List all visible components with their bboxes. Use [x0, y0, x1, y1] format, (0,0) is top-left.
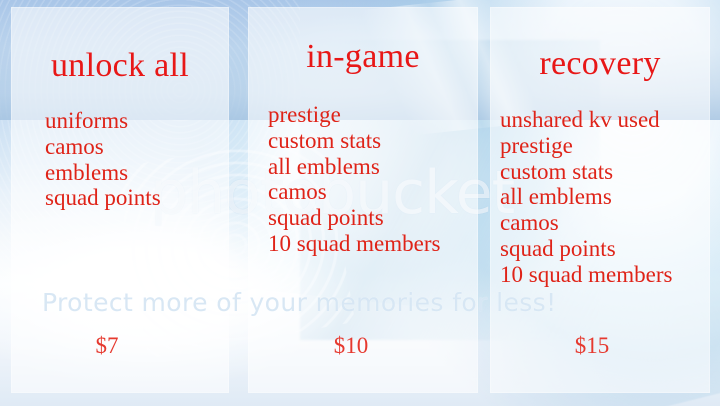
list-item: squad points	[268, 205, 440, 231]
list-item: 10 squad members	[268, 231, 440, 257]
list-item: camos	[45, 134, 161, 160]
list-item: prestige	[500, 133, 672, 159]
list-item: squad points	[45, 185, 161, 211]
tier-title: in-game	[248, 40, 478, 74]
tier-price: $7	[0, 334, 216, 357]
list-item: camos	[500, 210, 672, 236]
tier-column-recovery: recovery unshared kv used prestige custo…	[490, 7, 710, 393]
list-item: all emblems	[268, 154, 440, 180]
tier-title: recovery	[490, 47, 710, 81]
list-item: squad points	[500, 236, 672, 262]
list-item: emblems	[45, 160, 161, 186]
list-item: 10 squad members	[500, 262, 672, 288]
tier-column-unlock-all: unlock all uniforms camos emblems squad …	[11, 7, 229, 393]
tier-feature-list: uniforms camos emblems squad points	[45, 108, 161, 211]
tier-feature-list: unshared kv used prestige custom stats a…	[500, 107, 672, 287]
tier-column-in-game: in-game prestige custom stats all emblem…	[248, 7, 478, 393]
tier-price: $15	[482, 334, 702, 357]
list-item: custom stats	[500, 159, 672, 185]
list-item: custom stats	[268, 128, 440, 154]
list-item: all emblems	[500, 184, 672, 210]
list-item: unshared kv used	[500, 107, 672, 133]
list-item: uniforms	[45, 108, 161, 134]
tier-feature-list: prestige custom stats all emblems camos …	[268, 102, 440, 257]
tier-price: $10	[236, 334, 466, 357]
price-tiers-graphic: photobucket Protect more of your memorie…	[0, 0, 720, 406]
list-item: prestige	[268, 102, 440, 128]
tier-title: unlock all	[11, 49, 229, 83]
list-item: camos	[268, 179, 440, 205]
